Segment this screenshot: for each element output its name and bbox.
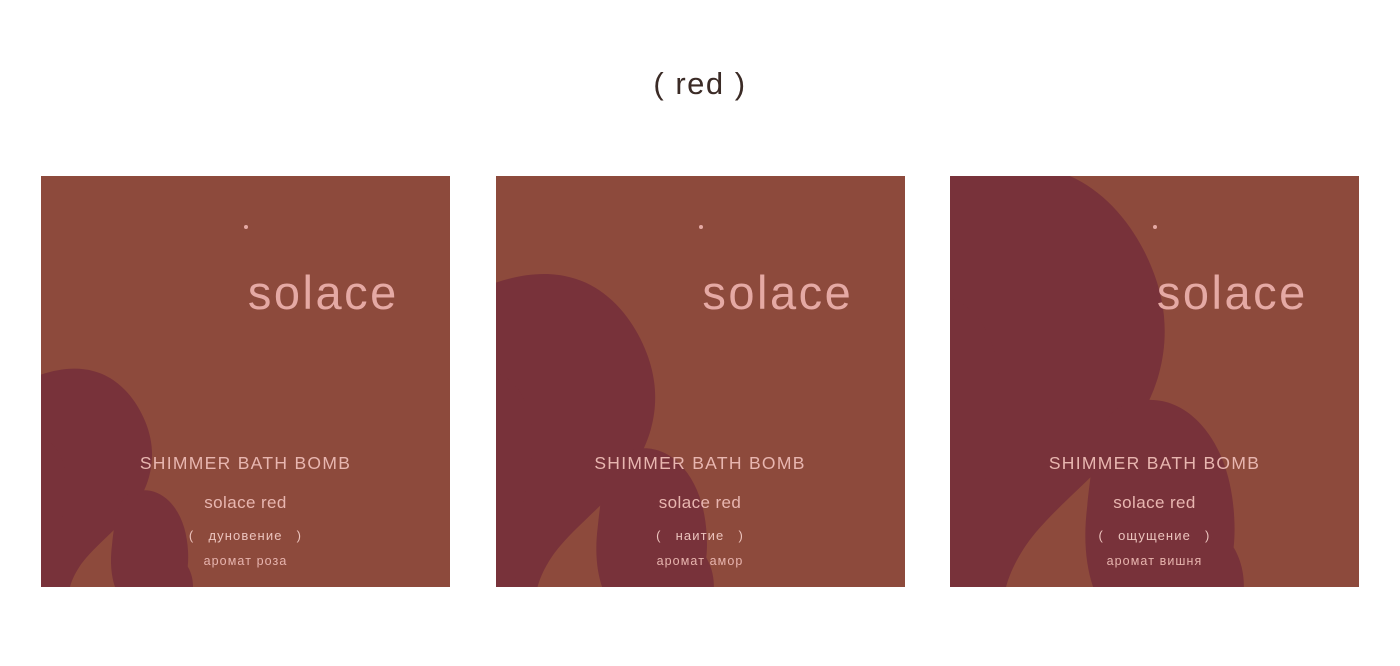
brand-accent-dot-icon	[1153, 225, 1157, 229]
product-name: SHIMMER BATH BOMB	[140, 453, 351, 474]
product-variant: solace red	[659, 493, 741, 513]
brand-logo-text: solace	[248, 266, 399, 319]
brand-logo: solace	[92, 222, 398, 410]
product-mood: ( ощущение )	[950, 528, 1359, 543]
product-name: SHIMMER BATH BOMB	[1049, 453, 1260, 474]
product-variant: solace red	[204, 493, 286, 513]
product-card[interactable]: solace SHIMMER BATH BOMB solace red аром…	[950, 176, 1359, 587]
brand-logo: solace	[1001, 222, 1307, 410]
card-content: solace SHIMMER BATH BOMB solace red аром…	[496, 176, 905, 587]
card-content: solace SHIMMER BATH BOMB solace red аром…	[950, 176, 1359, 587]
product-variant: solace red	[1113, 493, 1195, 513]
product-card-row: solace SHIMMER BATH BOMB solace red аром…	[41, 176, 1359, 587]
brand-logo-text: solace	[1157, 266, 1308, 319]
product-name: SHIMMER BATH BOMB	[594, 453, 805, 474]
brand-accent-dot-icon	[699, 225, 703, 229]
product-mood: ( дуновение )	[41, 528, 450, 543]
brand-logo: solace	[547, 222, 853, 410]
brand-logo-text: solace	[702, 266, 853, 319]
product-scent: аромат вишня	[1107, 554, 1203, 568]
product-mood: ( наитие )	[496, 528, 905, 543]
product-scent: аромат амор	[657, 554, 744, 568]
product-scent: аромат роза	[204, 554, 288, 568]
brand-accent-dot-icon	[244, 225, 248, 229]
page-title: ( red )	[0, 66, 1400, 102]
product-card[interactable]: solace SHIMMER BATH BOMB solace red аром…	[496, 176, 905, 587]
page-root: ( red ) solace SHIMMER BATH BOMB solace …	[0, 0, 1400, 666]
product-card[interactable]: solace SHIMMER BATH BOMB solace red аром…	[41, 176, 450, 587]
card-content: solace SHIMMER BATH BOMB solace red аром…	[41, 176, 450, 587]
